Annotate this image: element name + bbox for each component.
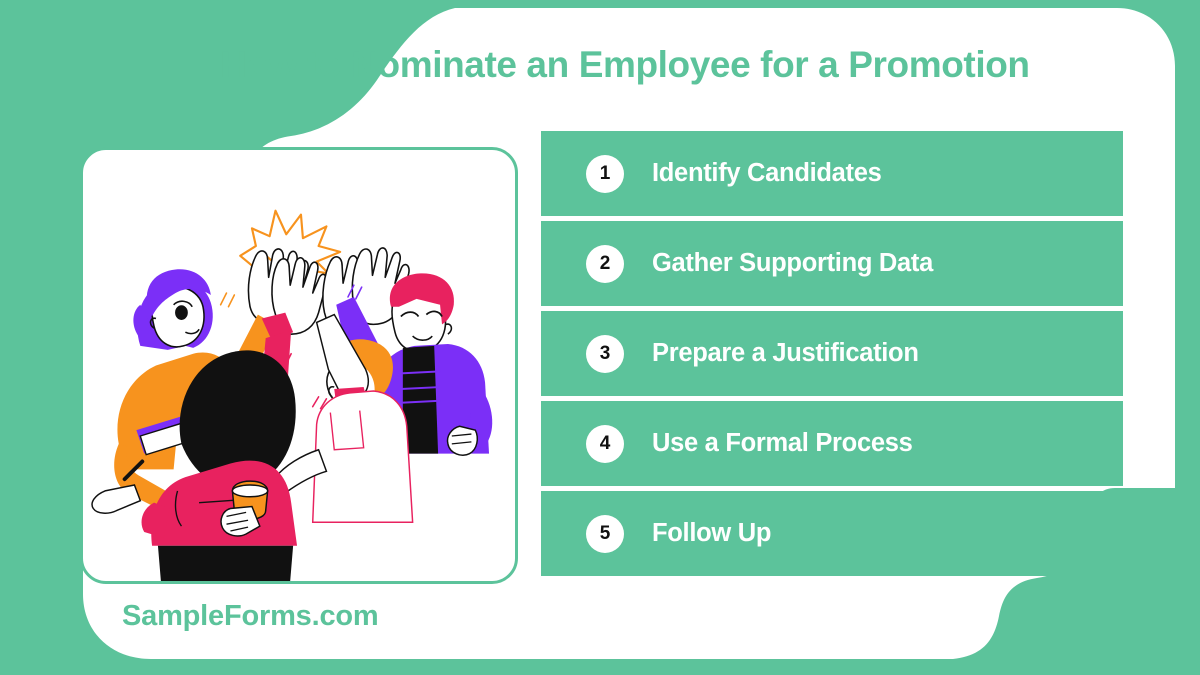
steps-list: 1 Identify Candidates 2 Gather Supportin… xyxy=(541,131,1123,576)
step-number-badge: 3 xyxy=(586,335,624,373)
step-number-badge: 5 xyxy=(586,515,624,553)
step-row-3[interactable]: 3 Prepare a Justification xyxy=(541,311,1123,396)
step-number-badge: 1 xyxy=(586,155,624,193)
step-row-5[interactable]: 5 Follow Up xyxy=(541,491,1123,576)
illustration-card xyxy=(80,147,518,584)
step-label: Identify Candidates xyxy=(652,159,882,188)
infographic-canvas: How to Nominate an Employee for a Promot… xyxy=(0,0,1200,675)
person-orange-hair xyxy=(275,315,412,523)
team-high-five-illustration xyxy=(83,150,515,581)
step-row-1[interactable]: 1 Identify Candidates xyxy=(541,131,1123,216)
step-number-badge: 2 xyxy=(586,245,624,283)
step-row-2[interactable]: 2 Gather Supporting Data xyxy=(541,221,1123,306)
step-label: Follow Up xyxy=(652,519,771,548)
step-number-badge: 4 xyxy=(586,425,624,463)
step-label: Prepare a Justification xyxy=(652,339,919,368)
step-row-4[interactable]: 4 Use a Formal Process xyxy=(541,401,1123,486)
step-label: Use a Formal Process xyxy=(652,429,912,458)
page-title: How to Nominate an Employee for a Promot… xyxy=(120,44,1130,86)
brand-footer: SampleForms.com xyxy=(122,600,378,633)
step-label: Gather Supporting Data xyxy=(652,249,933,278)
